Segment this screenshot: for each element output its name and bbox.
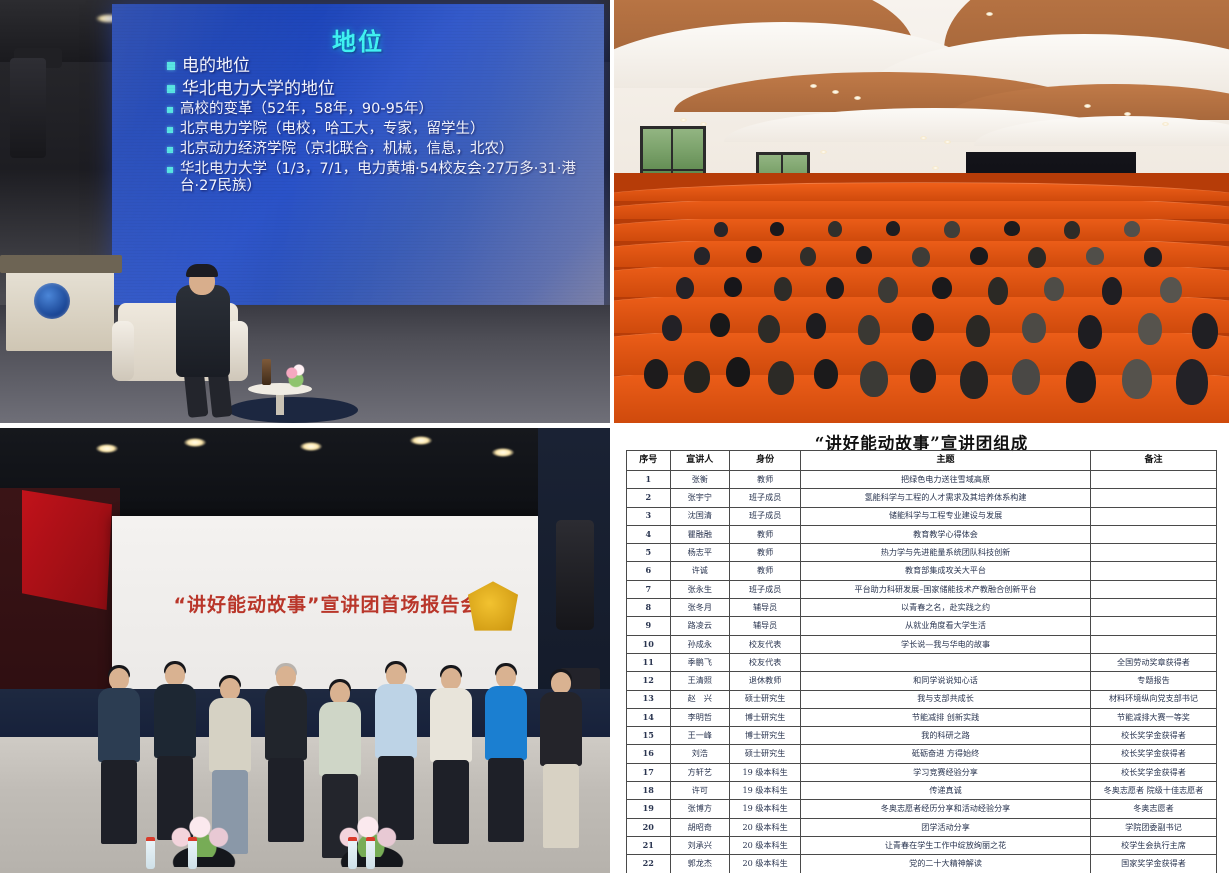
table-row: 14李明哲博士研究生节能减排 创新实践节能减排大赛一等奖 (627, 708, 1217, 726)
ceiling-downlight-icon (1124, 112, 1131, 116)
bullet-square-icon (167, 107, 173, 113)
cell-name: 李明哲 (670, 708, 730, 726)
cell-no: 18 (627, 782, 671, 800)
cell-note (1090, 544, 1216, 562)
cell-topic: 让青春在学生工作中绽放绚丽之花 (801, 836, 1091, 854)
cell-no: 4 (627, 525, 671, 543)
cell-topic: 教育教学心得体会 (801, 525, 1091, 543)
cell-role: 辅导员 (730, 599, 801, 617)
audience-member (856, 246, 872, 264)
ceiling-light-icon (492, 448, 514, 457)
audience-member (1124, 221, 1140, 237)
table-header-row: 序号 宣讲人 身份 主题 备注 (627, 451, 1217, 471)
cell-no: 12 (627, 672, 671, 690)
seated-speaker (176, 285, 230, 377)
cell-no: 20 (627, 818, 671, 836)
audience-member (662, 315, 682, 341)
slide-bullet-text: 北京动力经济学院（京北联合，机械，信息，北农） (180, 141, 514, 159)
person-head (551, 672, 571, 694)
person-head (276, 666, 296, 688)
person-torso (430, 688, 472, 762)
table-row: 3沈国清班子成员储能科学与工程专业建设与发展 (627, 507, 1217, 525)
bullet-square-icon (167, 167, 173, 173)
audience-member (1004, 221, 1020, 236)
cell-name: 许可 (670, 782, 730, 800)
flower-bouquet (164, 813, 242, 857)
cell-role: 校友代表 (730, 653, 801, 671)
bullet-square-icon (167, 85, 175, 93)
slide-bullet: 电的地位 (167, 56, 590, 77)
cell-name: 张永生 (670, 580, 730, 598)
slide-bullet-text: 华北电力大学的地位 (182, 79, 335, 100)
table-row: 12王清照退休教师和同学说说知心话专题报告 (627, 672, 1217, 690)
person-head (220, 678, 240, 700)
cell-no: 2 (627, 489, 671, 507)
audience-member (912, 313, 934, 341)
cell-name: 刘承兴 (670, 836, 730, 854)
table-row: 17方轩艺19 级本科生学习竞赛经验分享校长奖学金获得者 (627, 763, 1217, 781)
person-torso (375, 684, 417, 758)
audience-member (1086, 247, 1104, 265)
cell-name: 赵 兴 (670, 690, 730, 708)
cell-note (1090, 562, 1216, 580)
slide-bullet-text: 高校的变革（52年，58年，90-95年） (180, 101, 433, 119)
audience-member (644, 359, 668, 389)
panel-group-photo: “讲好能动故事”宣讲团首场报告会 主讲人：王清照 2023年5月1日 (0, 428, 610, 873)
audience-member (1044, 277, 1064, 301)
cell-role: 20 级本科生 (730, 855, 801, 873)
person-legs (268, 758, 304, 842)
cell-no: 16 (627, 745, 671, 763)
group-member (96, 668, 142, 868)
person-torso (540, 692, 582, 766)
cell-name: 张宇宁 (670, 489, 730, 507)
cell-no: 17 (627, 763, 671, 781)
cell-topic: 把绿色电力送往雪域高原 (801, 471, 1091, 489)
audience-member (932, 277, 952, 299)
speaker-cap-icon (186, 264, 218, 277)
cell-name: 张衡 (670, 471, 730, 489)
cell-role: 教师 (730, 525, 801, 543)
audience-member (768, 361, 794, 395)
ceiling-downlight-icon (854, 96, 861, 100)
ceiling-light-icon (410, 436, 432, 445)
collage-page: 地位 电的地位 华北电力大学的地位 高校的变革（52年，58年，90-95年） … (0, 0, 1229, 873)
audience-member (800, 247, 816, 266)
audience-member (1122, 359, 1152, 399)
cell-note (1090, 525, 1216, 543)
column-header-name: 宣讲人 (670, 451, 730, 471)
cell-no: 15 (627, 727, 671, 745)
cell-topic: 和同学说说知心话 (801, 672, 1091, 690)
cell-topic: 储能科学与工程专业建设与发展 (801, 507, 1091, 525)
audience-member (1012, 359, 1040, 395)
cell-role: 博士研究生 (730, 708, 801, 726)
ceiling-downlight-icon (944, 140, 951, 144)
cell-name: 孙成永 (670, 635, 730, 653)
table-row: 11季鹏飞校友代表全国劳动奖章获得者 (627, 653, 1217, 671)
audience-member (1028, 247, 1046, 268)
cell-topic: 学习竞赛经验分享 (801, 763, 1091, 781)
roster-table: 序号 宣讲人 身份 主题 备注 1张衡教师把绿色电力送往雪域高原2张宇宁班子成员… (626, 450, 1217, 873)
audience-member (684, 361, 710, 393)
audience-member (966, 315, 990, 347)
water-bottle-icon (146, 837, 155, 869)
column-header-role: 身份 (730, 451, 801, 471)
audience-member (714, 222, 728, 237)
audience-member (758, 315, 780, 343)
cell-topic: 以青春之名，赴实践之约 (801, 599, 1091, 617)
cell-topic: 传递真诚 (801, 782, 1091, 800)
table-row: 8张冬月辅导员以青春之名，赴实践之约 (627, 599, 1217, 617)
audience-member (694, 247, 710, 265)
cell-name: 杨志平 (670, 544, 730, 562)
cell-role: 博士研究生 (730, 727, 801, 745)
cell-name: 张冬月 (670, 599, 730, 617)
cell-name: 许诚 (670, 562, 730, 580)
person-head (441, 668, 461, 690)
cell-role: 辅导员 (730, 617, 801, 635)
audience-member (1022, 313, 1046, 343)
person-head (386, 664, 406, 686)
slide-bullet: 高校的变革（52年，58年，90-95年） (167, 101, 590, 119)
audience-member (770, 222, 784, 236)
ceiling-downlight-icon (810, 84, 817, 88)
cell-no: 11 (627, 653, 671, 671)
panel-auditorium-audience-photo (614, 0, 1229, 423)
audience-member (878, 277, 898, 303)
audience-member (806, 313, 826, 339)
person-head (496, 666, 516, 688)
cell-name: 路凌云 (670, 617, 730, 635)
person-head (109, 668, 129, 690)
table-row: 6许诚教师教育部集成攻关大平台 (627, 562, 1217, 580)
audience-member (944, 221, 960, 238)
cell-topic: 从就业角度看大学生活 (801, 617, 1091, 635)
group-member (262, 666, 310, 868)
person-legs (543, 764, 579, 848)
cell-name: 郭龙杰 (670, 855, 730, 873)
column-header-no: 序号 (627, 451, 671, 471)
cell-no: 22 (627, 855, 671, 873)
cell-no: 13 (627, 690, 671, 708)
audience-member (726, 357, 750, 387)
person-head (165, 664, 185, 686)
cell-role: 教师 (730, 471, 801, 489)
cell-note (1090, 489, 1216, 507)
cell-note: 材料环境纵向党支部书记 (1090, 690, 1216, 708)
cell-note: 校长奖学金获得者 (1090, 727, 1216, 745)
audience-member (1066, 361, 1096, 403)
roster-table-head: 序号 宣讲人 身份 主题 备注 (627, 451, 1217, 471)
audience-member (814, 359, 838, 389)
slide-bullet-text: 华北电力大学（1/3，7/1，电力黄埔·54校友会·27万多·31·港台·27民… (180, 161, 590, 196)
ceiling-downlight-icon (986, 12, 993, 16)
cell-role: 班子成员 (730, 489, 801, 507)
cell-role: 硕士研究生 (730, 745, 801, 763)
cell-note (1090, 507, 1216, 525)
cell-no: 5 (627, 544, 671, 562)
table-row: 19张博方19 级本科生冬奥志愿者经历分享和活动经验分享冬奥志愿者 (627, 800, 1217, 818)
table-row: 21刘承兴20 级本科生让青春在学生工作中绽放绚丽之花校学生会执行主席 (627, 836, 1217, 854)
table-row: 13赵 兴硕士研究生我与支部共成长材料环境纵向党支部书记 (627, 690, 1217, 708)
audience-member (1138, 313, 1162, 345)
person-head (330, 682, 350, 704)
stage-carpet (228, 397, 358, 423)
ceiling-light-icon (184, 438, 206, 447)
audience-member (1192, 313, 1218, 349)
person-legs (488, 758, 524, 842)
column-header-note: 备注 (1090, 451, 1216, 471)
cell-topic: 教育部集成攻关大平台 (801, 562, 1091, 580)
cell-note: 冬奥志愿者 (1090, 800, 1216, 818)
wall-speaker-icon (556, 520, 594, 630)
audience-member (710, 313, 730, 337)
person-legs (433, 760, 469, 844)
table-row: 18许可19 级本科生传递真诚冬奥志愿者 院级十佳志愿者 (627, 782, 1217, 800)
cell-no: 3 (627, 507, 671, 525)
audience-seating (614, 173, 1229, 423)
audience-member (912, 247, 930, 267)
cell-topic: 团学活动分享 (801, 818, 1091, 836)
cell-no: 6 (627, 562, 671, 580)
person-torso (265, 686, 307, 760)
person-torso (319, 702, 361, 776)
bullet-square-icon (167, 62, 175, 70)
cell-note: 校学生会执行主席 (1090, 836, 1216, 854)
cell-name: 方轩艺 (670, 763, 730, 781)
podium-top (0, 255, 122, 273)
cell-role: 19 级本科生 (730, 782, 801, 800)
cell-topic: 我的科研之路 (801, 727, 1091, 745)
person-torso (154, 684, 196, 758)
seat-row (614, 182, 1229, 201)
cell-topic: 党的二十大精神解读 (801, 855, 1091, 873)
cell-role: 班子成员 (730, 580, 801, 598)
cell-note: 冬奥志愿者 院级十佳志愿者 (1090, 782, 1216, 800)
audience-member (1102, 277, 1122, 305)
audience-member (724, 277, 742, 297)
audience-member (1064, 221, 1080, 239)
cell-name: 瞿融融 (670, 525, 730, 543)
ceiling-downlight-icon (920, 136, 927, 140)
person-torso (485, 686, 527, 760)
ceiling-light-icon (96, 444, 118, 453)
cell-name: 沈国清 (670, 507, 730, 525)
cell-topic: 热力学与先进能量系统团队科技创新 (801, 544, 1091, 562)
ceiling-downlight-icon (1162, 122, 1169, 126)
table-row: 5杨志平教师热力学与先进能量系统团队科技创新 (627, 544, 1217, 562)
cell-note (1090, 580, 1216, 598)
audience-member (828, 221, 842, 237)
cell-topic: 氢能科学与工程的人才需求及其培养体系构建 (801, 489, 1091, 507)
cell-no: 8 (627, 599, 671, 617)
cell-role: 教师 (730, 562, 801, 580)
roster-table-body: 1张衡教师把绿色电力送往雪域高原2张宇宁班子成员氢能科学与工程的人才需求及其培养… (627, 471, 1217, 873)
ceiling-downlight-icon (1084, 104, 1091, 108)
window-mullion (643, 169, 703, 171)
cell-role: 教师 (730, 544, 801, 562)
cell-topic: 节能减排 创新实践 (801, 708, 1091, 726)
cell-topic: 我与支部共成长 (801, 690, 1091, 708)
cell-topic: 平台助力科研发展–国家储能技术产教融合创新平台 (801, 580, 1091, 598)
ceiling-light-icon (300, 442, 322, 451)
slide-bullet-text: 电的地位 (182, 56, 250, 77)
roster-container: “讲好能动故事”宣讲团组成 序号 宣讲人 身份 主题 备注 1张衡教师把绿色电力… (614, 428, 1229, 873)
slide-bullet: 华北电力大学（1/3，7/1，电力黄埔·54校友会·27万多·31·港台·27民… (167, 161, 590, 196)
audience-member (676, 277, 694, 299)
cell-note: 节能减排大赛一等奖 (1090, 708, 1216, 726)
group-member (482, 666, 530, 868)
cell-name: 王一峰 (670, 727, 730, 745)
cell-role: 硕士研究生 (730, 690, 801, 708)
cell-no: 10 (627, 635, 671, 653)
cell-name: 张博方 (670, 800, 730, 818)
table-row: 16刘浩硕士研究生砥砺奋进 方得始终校长奖学金获得者 (627, 745, 1217, 763)
cell-note: 国家奖学金获得者 (1090, 855, 1216, 873)
audience-member (1176, 359, 1208, 405)
audience-member (858, 315, 880, 345)
panel-speaker-roster: “讲好能动故事”宣讲团组成 序号 宣讲人 身份 主题 备注 1张衡教师把绿色电力… (614, 428, 1229, 873)
wall-speaker-icon (10, 58, 46, 158)
red-flag-icon (22, 490, 112, 610)
ceiling-downlight-icon (820, 150, 827, 154)
bullet-square-icon (167, 147, 173, 153)
ceiling-downlight-icon (832, 90, 839, 94)
audience-member (746, 246, 762, 263)
audience-member (1078, 315, 1102, 349)
cell-topic (801, 653, 1091, 671)
cell-note (1090, 599, 1216, 617)
cell-no: 19 (627, 800, 671, 818)
slide-bullet: 北京动力经济学院（京北联合，机械，信息，北农） (167, 141, 590, 159)
cell-topic: 冬奥志愿者经历分享和活动经验分享 (801, 800, 1091, 818)
table-row: 1张衡教师把绿色电力送往雪域高原 (627, 471, 1217, 489)
water-bottle-icon (348, 837, 357, 869)
cell-note (1090, 471, 1216, 489)
audience-member (988, 277, 1008, 305)
flower-arrangement (282, 361, 310, 391)
audience-member (970, 247, 988, 265)
group-member (428, 668, 474, 868)
cell-role: 19 级本科生 (730, 800, 801, 818)
panel-lecture-slide-photo: 地位 电的地位 华北电力大学的地位 高校的变革（52年，58年，90-95年） … (0, 0, 610, 423)
table-row: 10孙成永校友代表学长说—我与华电的故事 (627, 635, 1217, 653)
ceiling-downlight-icon (680, 118, 687, 122)
cell-role: 19 级本科生 (730, 763, 801, 781)
table-row: 22郭龙杰20 级本科生党的二十大精神解读国家奖学金获得者 (627, 855, 1217, 873)
slide-bullet-text: 北京电力学院（电校，哈工大，专家，留学生） (180, 121, 485, 139)
slide-bullet: 北京电力学院（电校，哈工大，专家，留学生） (167, 121, 590, 139)
slide-title: 地位 (112, 22, 604, 57)
cell-role: 校友代表 (730, 635, 801, 653)
thermos-icon (262, 359, 271, 385)
cell-no: 21 (627, 836, 671, 854)
water-bottle-icon (366, 837, 375, 869)
bullet-square-icon (167, 127, 173, 133)
cell-role: 20 级本科生 (730, 836, 801, 854)
table-row: 2张宇宁班子成员氢能科学与工程的人才需求及其培养体系构建 (627, 489, 1217, 507)
cell-role: 退休教师 (730, 672, 801, 690)
cell-note: 校长奖学金获得者 (1090, 763, 1216, 781)
person-legs (101, 760, 137, 844)
audience-member (886, 221, 900, 236)
column-header-topic: 主题 (801, 451, 1091, 471)
audience-member (826, 277, 844, 299)
table-row: 9路凌云辅导员从就业角度看大学生活 (627, 617, 1217, 635)
table-row: 4瞿融融教师教育教学心得体会 (627, 525, 1217, 543)
cell-note: 学院团委副书记 (1090, 818, 1216, 836)
ceiling-downlight-icon (932, 166, 939, 170)
audience-member (910, 359, 936, 393)
cell-name: 季鹏飞 (670, 653, 730, 671)
cell-name: 刘浩 (670, 745, 730, 763)
cell-name: 胡昭奇 (670, 818, 730, 836)
slide-bullet-list: 电的地位 华北电力大学的地位 高校的变革（52年，58年，90-95年） 北京电… (167, 56, 590, 198)
audience-member (1144, 247, 1162, 267)
person-torso (98, 688, 140, 762)
cell-no: 9 (627, 617, 671, 635)
armchair-arm (112, 321, 134, 381)
cell-note: 校长奖学金获得者 (1090, 745, 1216, 763)
cell-topic: 学长说—我与华电的故事 (801, 635, 1091, 653)
cell-note: 全国劳动奖章获得者 (1090, 653, 1216, 671)
audience-member (1160, 277, 1182, 303)
cell-no: 1 (627, 471, 671, 489)
slide-bullet: 华北电力大学的地位 (167, 79, 590, 100)
cell-no: 7 (627, 580, 671, 598)
cell-note (1090, 635, 1216, 653)
cell-name: 王清照 (670, 672, 730, 690)
cell-topic: 砥砺奋进 方得始终 (801, 745, 1091, 763)
table-row: 15王一峰博士研究生我的科研之路校长奖学金获得者 (627, 727, 1217, 745)
table-row: 7张永生班子成员平台助力科研发展–国家储能技术产教融合创新平台 (627, 580, 1217, 598)
group-member (538, 672, 584, 868)
cell-role: 班子成员 (730, 507, 801, 525)
cell-no: 14 (627, 708, 671, 726)
projection-screen: 地位 电的地位 华北电力大学的地位 高校的变革（52年，58年，90-95年） … (112, 4, 604, 314)
water-bottle-icon (188, 837, 197, 869)
cell-role: 20 级本科生 (730, 818, 801, 836)
university-emblem-icon (34, 283, 70, 319)
cell-note (1090, 617, 1216, 635)
cell-note: 专题报告 (1090, 672, 1216, 690)
audience-member (960, 361, 988, 399)
audience-member (774, 277, 792, 301)
person-torso (209, 698, 251, 772)
table-row: 20胡昭奇20 级本科生团学活动分享学院团委副书记 (627, 818, 1217, 836)
audience-member (860, 361, 888, 397)
